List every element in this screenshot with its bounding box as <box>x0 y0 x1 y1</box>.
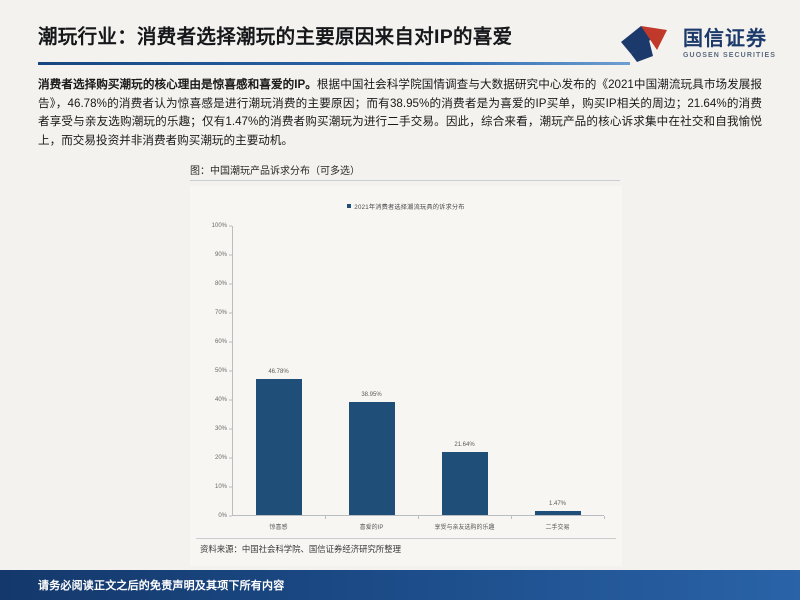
slide-canvas: 潮玩行业：消费者选择潮玩的主要原因来自对IP的喜爱 国信证券 GUOSEN SE… <box>0 0 800 600</box>
y-axis-tick-label: 40% <box>215 397 227 403</box>
y-axis-line <box>232 226 233 516</box>
bar-value-label: 38.95% <box>361 392 381 398</box>
y-axis-tick-mark <box>229 429 232 430</box>
y-axis-tick-label: 60% <box>215 339 227 345</box>
chart-title-text: 2021年消费者选择潮流玩具的诉求分布 <box>354 204 464 211</box>
chart-legend-title: 2021年消费者选择潮流玩具的诉求分布 <box>190 202 622 211</box>
y-axis-tick-label: 30% <box>215 426 227 432</box>
logo-text-block: 国信证券 GUOSEN SECURITIES <box>683 29 776 59</box>
bar-value-label: 21.64% <box>454 442 474 448</box>
slide-footer: 请务必阅读正文之后的免责声明及其项下所有内容 <box>0 570 800 600</box>
y-axis-tick-mark <box>229 458 232 459</box>
y-axis-tick-label: 50% <box>215 368 227 374</box>
x-axis-tick-mark <box>418 516 419 519</box>
x-axis-tick-mark <box>325 516 326 519</box>
y-axis-tick-mark <box>229 255 232 256</box>
x-axis-tick-mark <box>511 516 512 519</box>
y-axis-tick-mark <box>229 226 232 227</box>
y-axis-tick-label: 80% <box>215 281 227 287</box>
legend-swatch-icon <box>347 204 351 208</box>
chart-source-note: 资料来源：中国社会科学院、国信证券经济研究所整理 <box>200 543 401 555</box>
y-axis-tick-mark <box>229 516 232 517</box>
x-axis-category-label: 喜爱的IP <box>360 522 384 531</box>
chart-bar[interactable]: 38.95% <box>349 402 395 515</box>
y-axis-tick-label: 10% <box>215 484 227 490</box>
footer-disclaimer: 请务必阅读正文之后的免责声明及其项下所有内容 <box>38 577 284 593</box>
figure-caption-rule <box>190 180 620 181</box>
x-axis-category-label: 享受与亲友选购的乐趣 <box>434 522 494 531</box>
x-axis-category-label: 二手交易 <box>545 522 569 531</box>
bar-value-label: 1.47% <box>549 501 566 507</box>
title-underline-rule <box>38 62 630 65</box>
y-axis-tick-label: 100% <box>212 223 227 229</box>
y-axis-tick-mark <box>229 313 232 314</box>
logo-english-name: GUOSEN SECURITIES <box>683 52 776 59</box>
chart-bar[interactable]: 21.64% <box>442 452 488 515</box>
y-axis-tick-mark <box>229 487 232 488</box>
chart-panel: 2021年消费者选择潮流玩具的诉求分布 0%10%20%30%40%50%60%… <box>190 186 622 566</box>
logo-chinese-name: 国信证券 <box>683 29 776 49</box>
y-axis-tick-mark <box>229 371 232 372</box>
y-axis-tick-label: 90% <box>215 252 227 258</box>
y-axis-tick-mark <box>229 400 232 401</box>
chart-bar[interactable]: 46.78% <box>256 379 302 515</box>
chart-bar[interactable]: 1.47% <box>535 511 581 515</box>
body-paragraph-lead: 消费者选择购买潮玩的核心理由是惊喜感和喜爱的IP。 <box>38 78 317 91</box>
y-axis-tick-mark <box>229 342 232 343</box>
chart-plot-area: 0%10%20%30%40%50%60%70%80%90%100% 惊喜感46.… <box>232 226 604 516</box>
chart-source-rule <box>196 538 616 539</box>
x-axis-category-label: 惊喜感 <box>269 522 287 531</box>
y-axis-tick-label: 70% <box>215 310 227 316</box>
page-title-wrapper: 潮玩行业：消费者选择潮玩的主要原因来自对IP的喜爱 <box>38 24 638 50</box>
bar-value-label: 46.78% <box>268 369 288 375</box>
y-axis-tick-mark <box>229 284 232 285</box>
page-title: 潮玩行业：消费者选择潮玩的主要原因来自对IP的喜爱 <box>38 24 638 50</box>
logo-diamond-icon <box>619 24 675 64</box>
y-axis-tick-label: 20% <box>215 455 227 461</box>
figure-caption: 图：中国潮玩产品诉求分布（可多选） <box>190 162 360 177</box>
body-paragraph: 消费者选择购买潮玩的核心理由是惊喜感和喜爱的IP。根据中国社会科学院国情调查与大… <box>38 76 762 150</box>
y-axis-tick-label: 0% <box>218 513 227 519</box>
x-axis-tick-mark <box>604 516 605 519</box>
company-logo: 国信证券 GUOSEN SECURITIES <box>619 24 776 64</box>
slide-header: 潮玩行业：消费者选择潮玩的主要原因来自对IP的喜爱 国信证券 GUOSEN SE… <box>0 10 800 68</box>
